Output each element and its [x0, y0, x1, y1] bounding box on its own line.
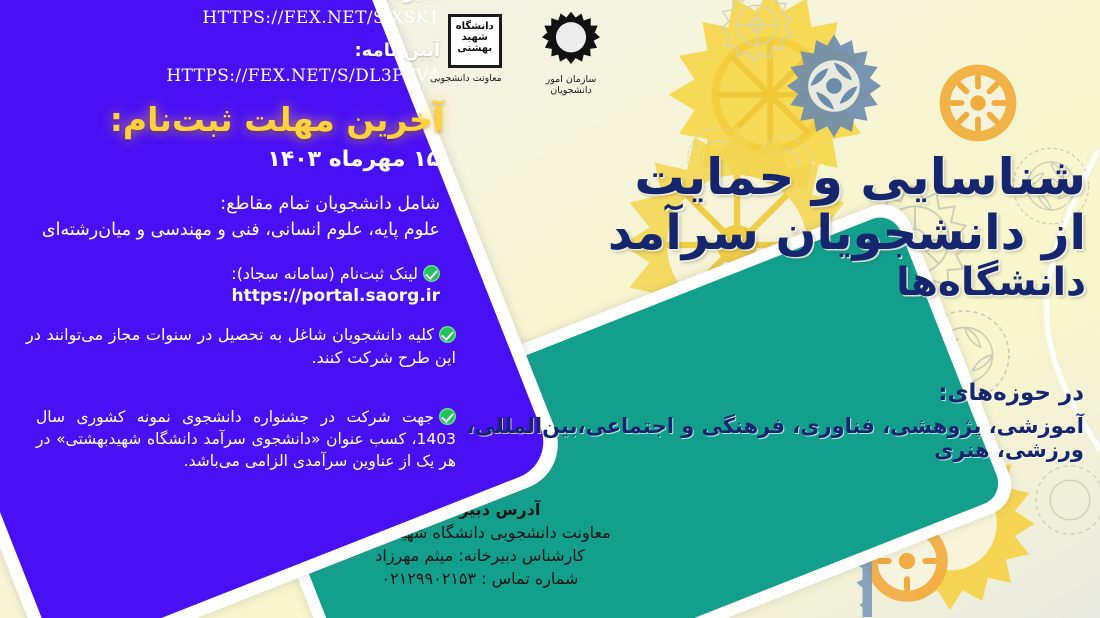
method-url[interactable]: HTTPS://FEX.NET/S/XSK1: [0, 8, 440, 28]
shahid-beheshti-university-logo: دانشگاه شهید بهشتی معاونت دانشجویی: [430, 14, 502, 84]
secretariat-phone: شماره تماس : ۰۲۱۲۹۹۰۲۱۵۳: [300, 567, 660, 590]
poster-root: آدرس دبیرخانه: معاونت دانشجویی دانشگاه ش…: [0, 0, 1100, 618]
saorg-caption-line-2: دانشجویان: [540, 85, 602, 96]
logo-group: دانشگاه شهید بهشتی معاونت دانشجویی سازما…: [430, 6, 660, 112]
fields-list: آموزشی، پژوهشی، فناوری، فرهنگی و اجتماعی…: [444, 414, 1084, 462]
check-icon: [439, 326, 456, 343]
gear-icon-orange: [930, 55, 1026, 151]
saorg-caption-line-1: سازمان امور: [540, 74, 602, 85]
poster-headline: شناسایی و حمایت از دانشجویان سرآمد دانشگ…: [566, 150, 1086, 304]
method-label: شیوه‌نامه:: [0, 0, 440, 3]
saorg-starburst-icon: [540, 10, 602, 68]
deadline-title: آخرین مهلت ثبت‌نام:: [0, 100, 444, 139]
bullet-1-text: لینک ثبت‌نام (سامانه سجاد):: [231, 264, 418, 283]
includes-heading: شامل دانشجویان تمام مقاطع:: [0, 194, 440, 214]
deadline-date: ۱۵ مهرماه ۱۴۰۳: [0, 147, 440, 172]
includes-majors: علوم پایه، علوم انسانی، فنی و مهندسی و م…: [0, 220, 440, 240]
list-item-registration-link: لینک ثبت‌نام (سامانه سجاد):: [0, 263, 440, 286]
regulation-url[interactable]: HTTPS://FEX.NET/S/DL3PFV4: [0, 66, 440, 86]
headline-line-3: دانشگاه‌ها: [566, 262, 1086, 304]
fields-block: در حوزه‌های: آموزشی، پژوهشی، فناوری، فره…: [444, 380, 1084, 462]
regulation-label: آیین نامه:: [0, 40, 440, 61]
headline-line-1: شناسایی و حمایت: [566, 150, 1086, 204]
bullet-2-text: کلیه دانشجویان شاغل به تحصیل در سنوات مج…: [26, 325, 456, 367]
sbu-emblem-icon: دانشگاه شهید بهشتی: [448, 14, 502, 68]
check-icon: [423, 265, 440, 282]
headline-line-2: از دانشجویان سرآمد: [566, 208, 1086, 260]
fields-label: در حوزه‌های:: [444, 380, 1084, 406]
sbu-logo-caption: معاونت دانشجویی: [430, 73, 502, 84]
gear-icon-blue: [778, 30, 890, 142]
sbu-emblem-text: دانشگاه شهید بهشتی: [451, 22, 499, 54]
gear-icon-outline-small-top: [712, 0, 802, 70]
student-affairs-organization-logo: سازمان امور دانشجویان: [540, 10, 602, 96]
gear-icon-outline-corner: [1025, 455, 1100, 545]
bullet-3-text: جهت شرکت در جشنواره دانشجوی نمونه کشوری …: [36, 408, 456, 470]
list-item-festival-requirement: جهت شرکت در جشنواره دانشجوی نمونه کشوری …: [36, 406, 456, 472]
list-item-eligibility: کلیه دانشجویان شاغل به تحصیل در سنوات مج…: [26, 324, 456, 369]
